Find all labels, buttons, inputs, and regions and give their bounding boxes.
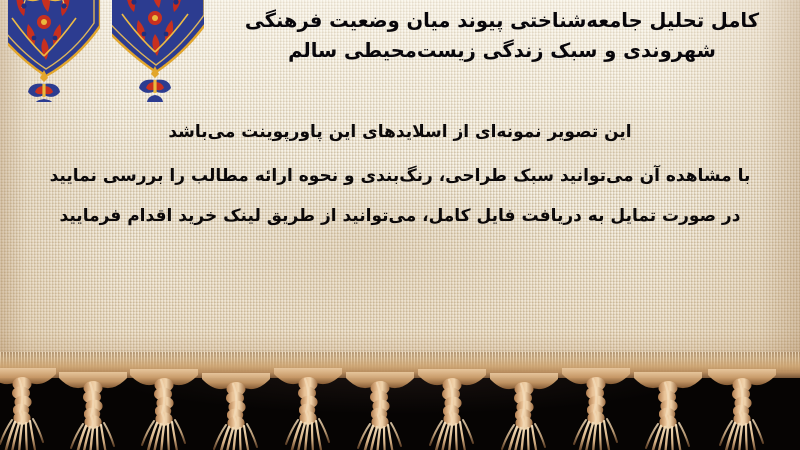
slide-canvas: کامل تحلیل جامعه‌شناختی پیوند میان وضعیت… [0, 0, 800, 450]
slide-title: کامل تحلیل جامعه‌شناختی پیوند میان وضعیت… [222, 6, 782, 66]
slide-title-line-1: کامل تحلیل جامعه‌شناختی پیوند میان وضعیت… [222, 6, 782, 36]
slide-body-line-3: در صورت تمایل به دریافت فایل کامل، می‌تو… [10, 196, 790, 236]
slide-body-line-1: این تصویر نمونه‌ای از اسلایدهای این پاور… [10, 112, 790, 152]
slide-text-layer: کامل تحلیل جامعه‌شناختی پیوند میان وضعیت… [0, 0, 800, 382]
slide-title-line-2: شهروندی و سبک زندگی زیست‌محیطی سالم [222, 36, 782, 66]
slide-body-line-2: با مشاهده آن می‌توانید سبک طراحی، رنگ‌بن… [10, 156, 790, 196]
slide-body: این تصویر نمونه‌ای از اسلایدهای این پاور… [10, 112, 790, 236]
